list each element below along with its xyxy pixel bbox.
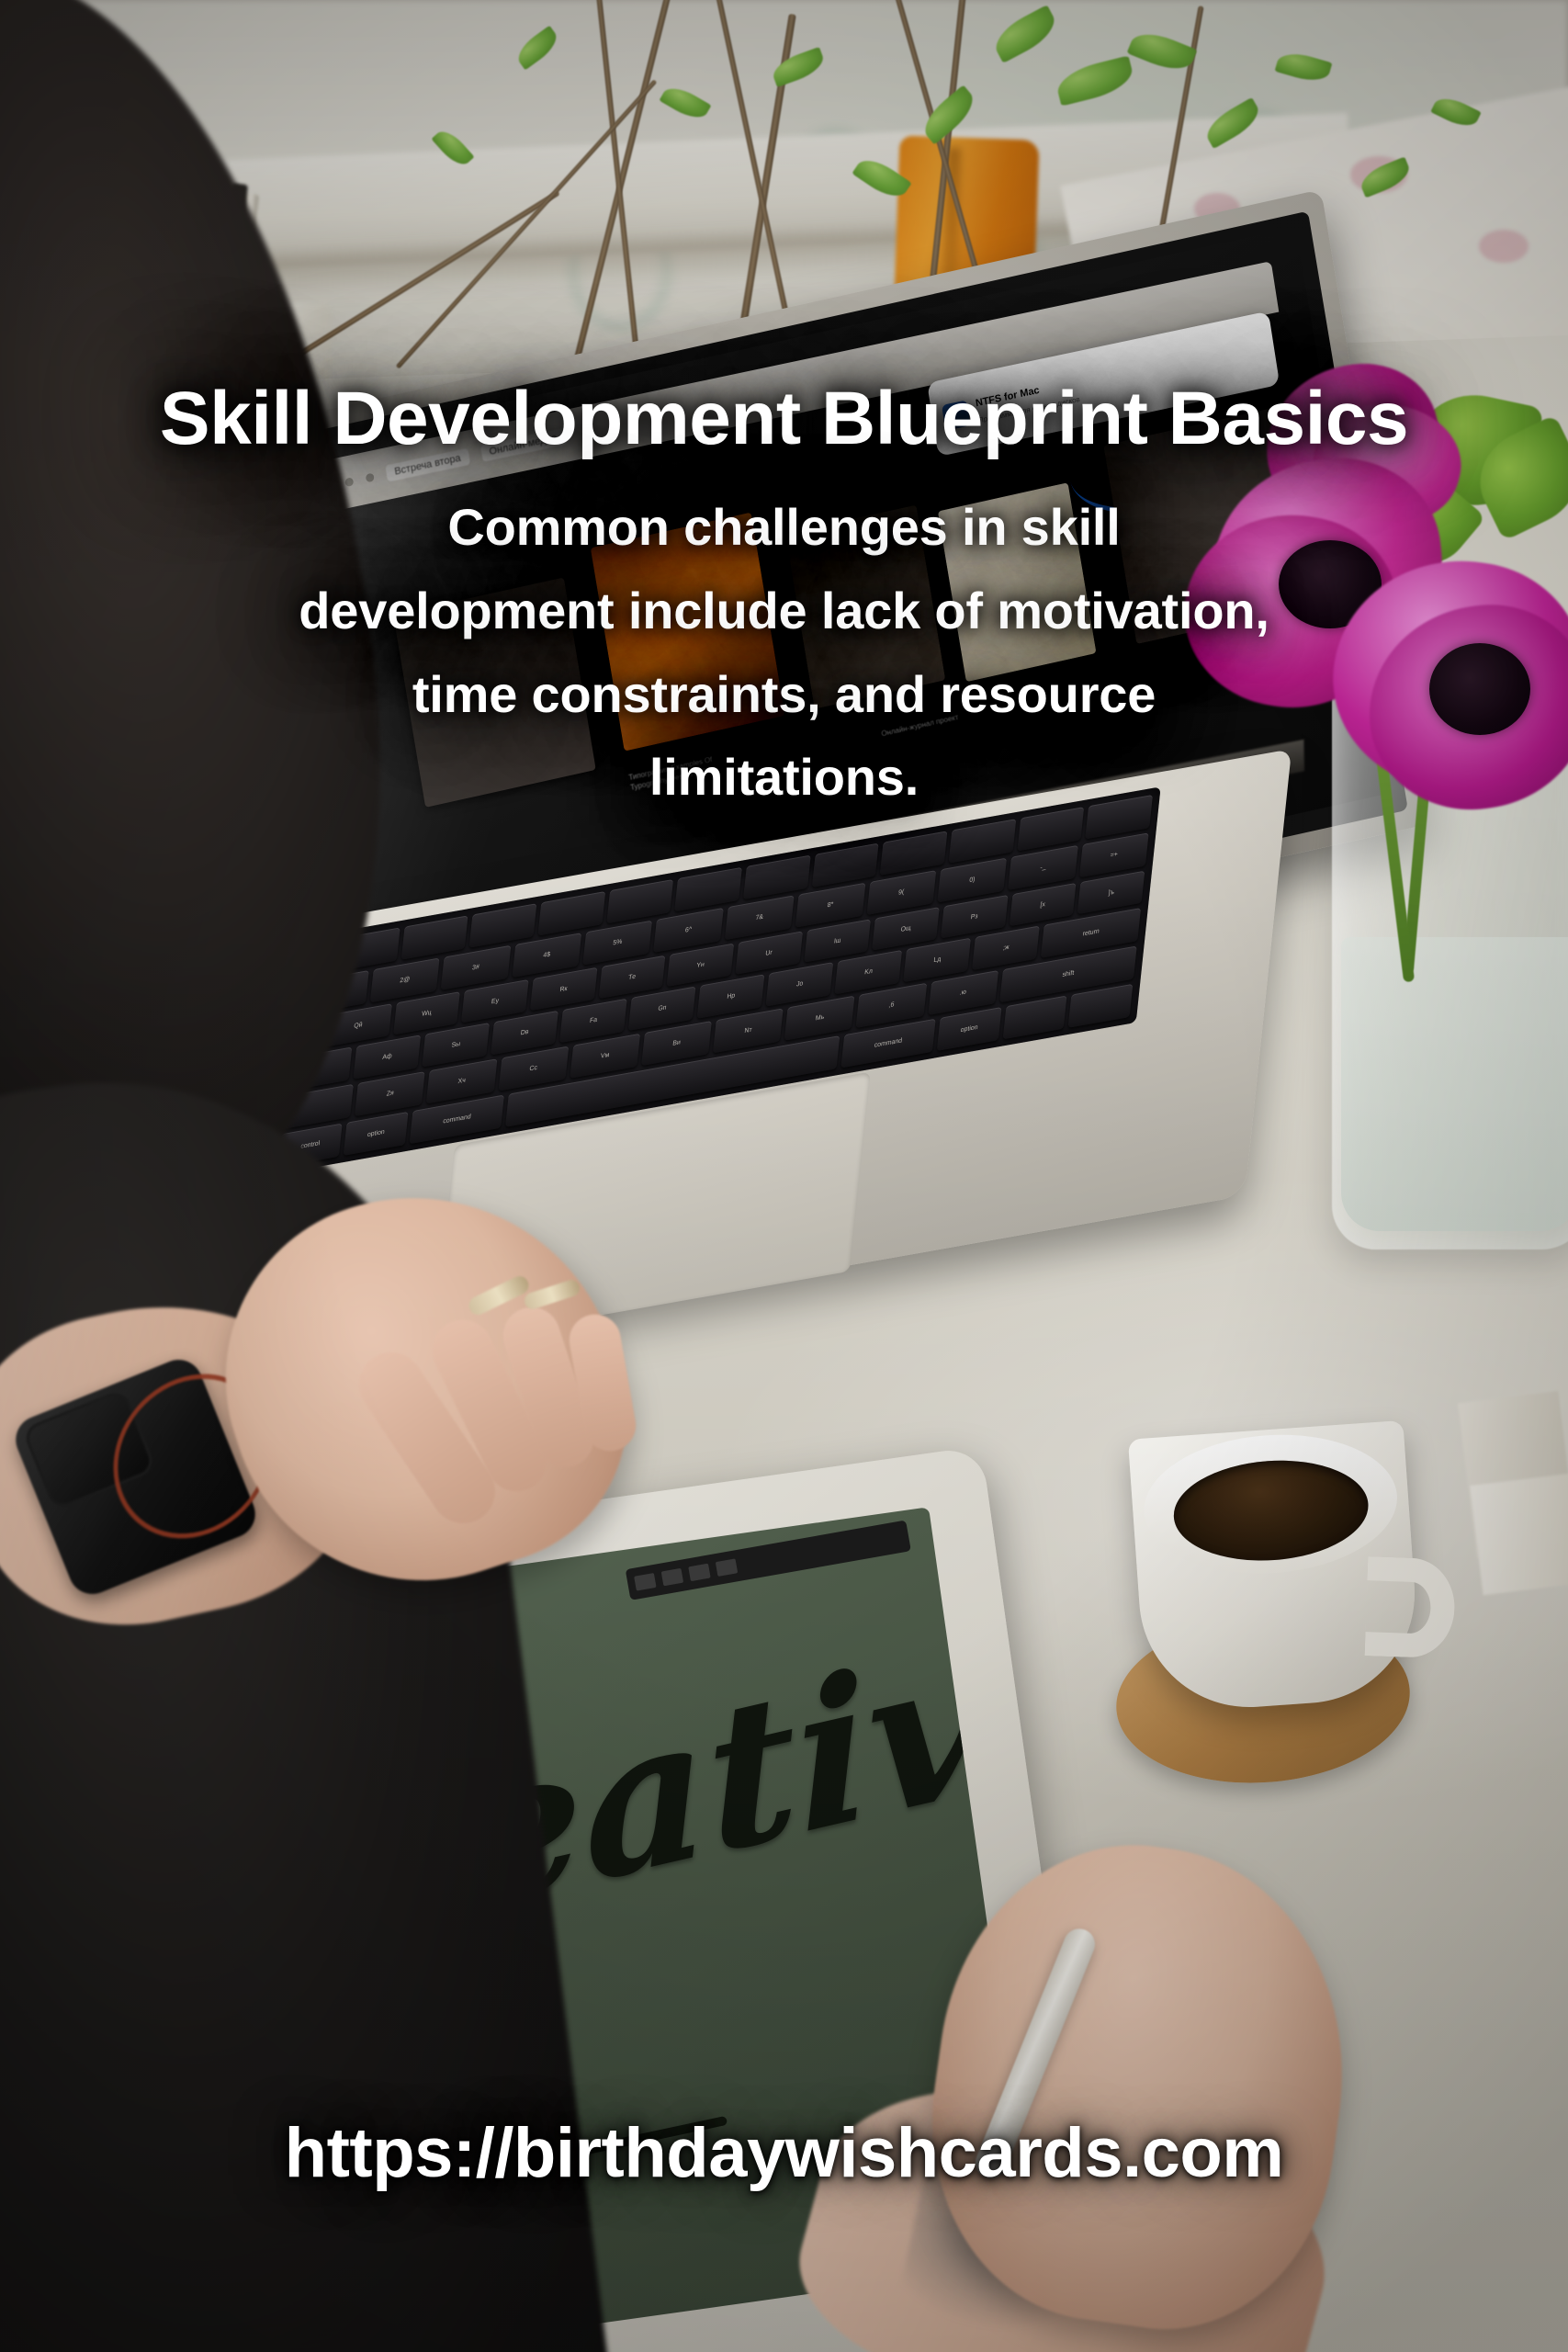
key bbox=[1017, 807, 1084, 851]
key: Iш bbox=[804, 919, 871, 963]
key: Yн bbox=[667, 943, 734, 987]
tool-icon bbox=[688, 1564, 710, 1582]
key: Wц bbox=[393, 991, 460, 1035]
key: Kл bbox=[835, 950, 903, 994]
poster-canvas: Встреча втора Онлайн-медиа NTFS for Mac … bbox=[0, 0, 1568, 2352]
key-arrow bbox=[1002, 996, 1066, 1040]
key: Jо bbox=[766, 963, 834, 1007]
gallery-thumbnail bbox=[591, 512, 785, 752]
key: Rк bbox=[530, 967, 597, 1011]
thumbnail-caption: Онлайн-журнал проект bbox=[881, 690, 1063, 740]
key: Gп bbox=[628, 987, 696, 1031]
browser-back-icon bbox=[344, 477, 354, 487]
key: Hр bbox=[697, 975, 765, 1019]
gallery-thumbnail bbox=[785, 504, 945, 709]
book-edge bbox=[1470, 1474, 1568, 1596]
browser-forward-icon bbox=[365, 472, 374, 482]
key: Oщ bbox=[872, 907, 939, 951]
key bbox=[538, 891, 605, 935]
app-icon bbox=[942, 400, 971, 430]
key bbox=[675, 867, 742, 911]
tool-icon bbox=[634, 1573, 656, 1591]
key: Tе bbox=[598, 955, 665, 999]
key-option: option bbox=[344, 1112, 408, 1156]
key bbox=[1086, 795, 1153, 839]
key bbox=[949, 819, 1016, 863]
key bbox=[400, 915, 468, 959]
key bbox=[606, 879, 673, 923]
key: Aф bbox=[353, 1035, 421, 1080]
key-option: option bbox=[937, 1007, 1001, 1051]
key: Uг bbox=[735, 931, 802, 975]
background-photo: Встреча втора Онлайн-медиа NTFS for Mac … bbox=[0, 0, 1568, 2352]
key: [х bbox=[1010, 882, 1077, 926]
flower-center bbox=[1429, 643, 1530, 735]
key: Pз bbox=[941, 895, 1008, 939]
coffee-cup bbox=[1128, 1420, 1422, 1714]
browser-tab: Онлайн-медиа bbox=[479, 428, 566, 462]
key: Eу bbox=[461, 979, 528, 1023]
key: Fа bbox=[559, 999, 627, 1043]
website-url: https://birthdaywishcards.com bbox=[0, 2113, 1568, 2193]
key: ;ж bbox=[972, 926, 1040, 970]
gallery-thumbnail bbox=[393, 577, 596, 808]
key: Lд bbox=[903, 938, 971, 982]
key bbox=[743, 855, 810, 899]
cloth-pattern-dot bbox=[1479, 230, 1529, 263]
key bbox=[812, 842, 879, 887]
key-arrow bbox=[1068, 984, 1133, 1028]
tool-icon bbox=[661, 1568, 683, 1587]
key bbox=[469, 903, 536, 947]
key: ]ъ bbox=[1077, 870, 1145, 914]
gallery-thumbnail bbox=[938, 483, 1097, 682]
key: Sы bbox=[422, 1023, 490, 1068]
key bbox=[880, 831, 947, 875]
tool-icon bbox=[716, 1558, 738, 1577]
key: Dв bbox=[491, 1011, 558, 1055]
browser-tab: Встреча втора bbox=[385, 448, 469, 482]
vase-water bbox=[1341, 937, 1568, 1231]
